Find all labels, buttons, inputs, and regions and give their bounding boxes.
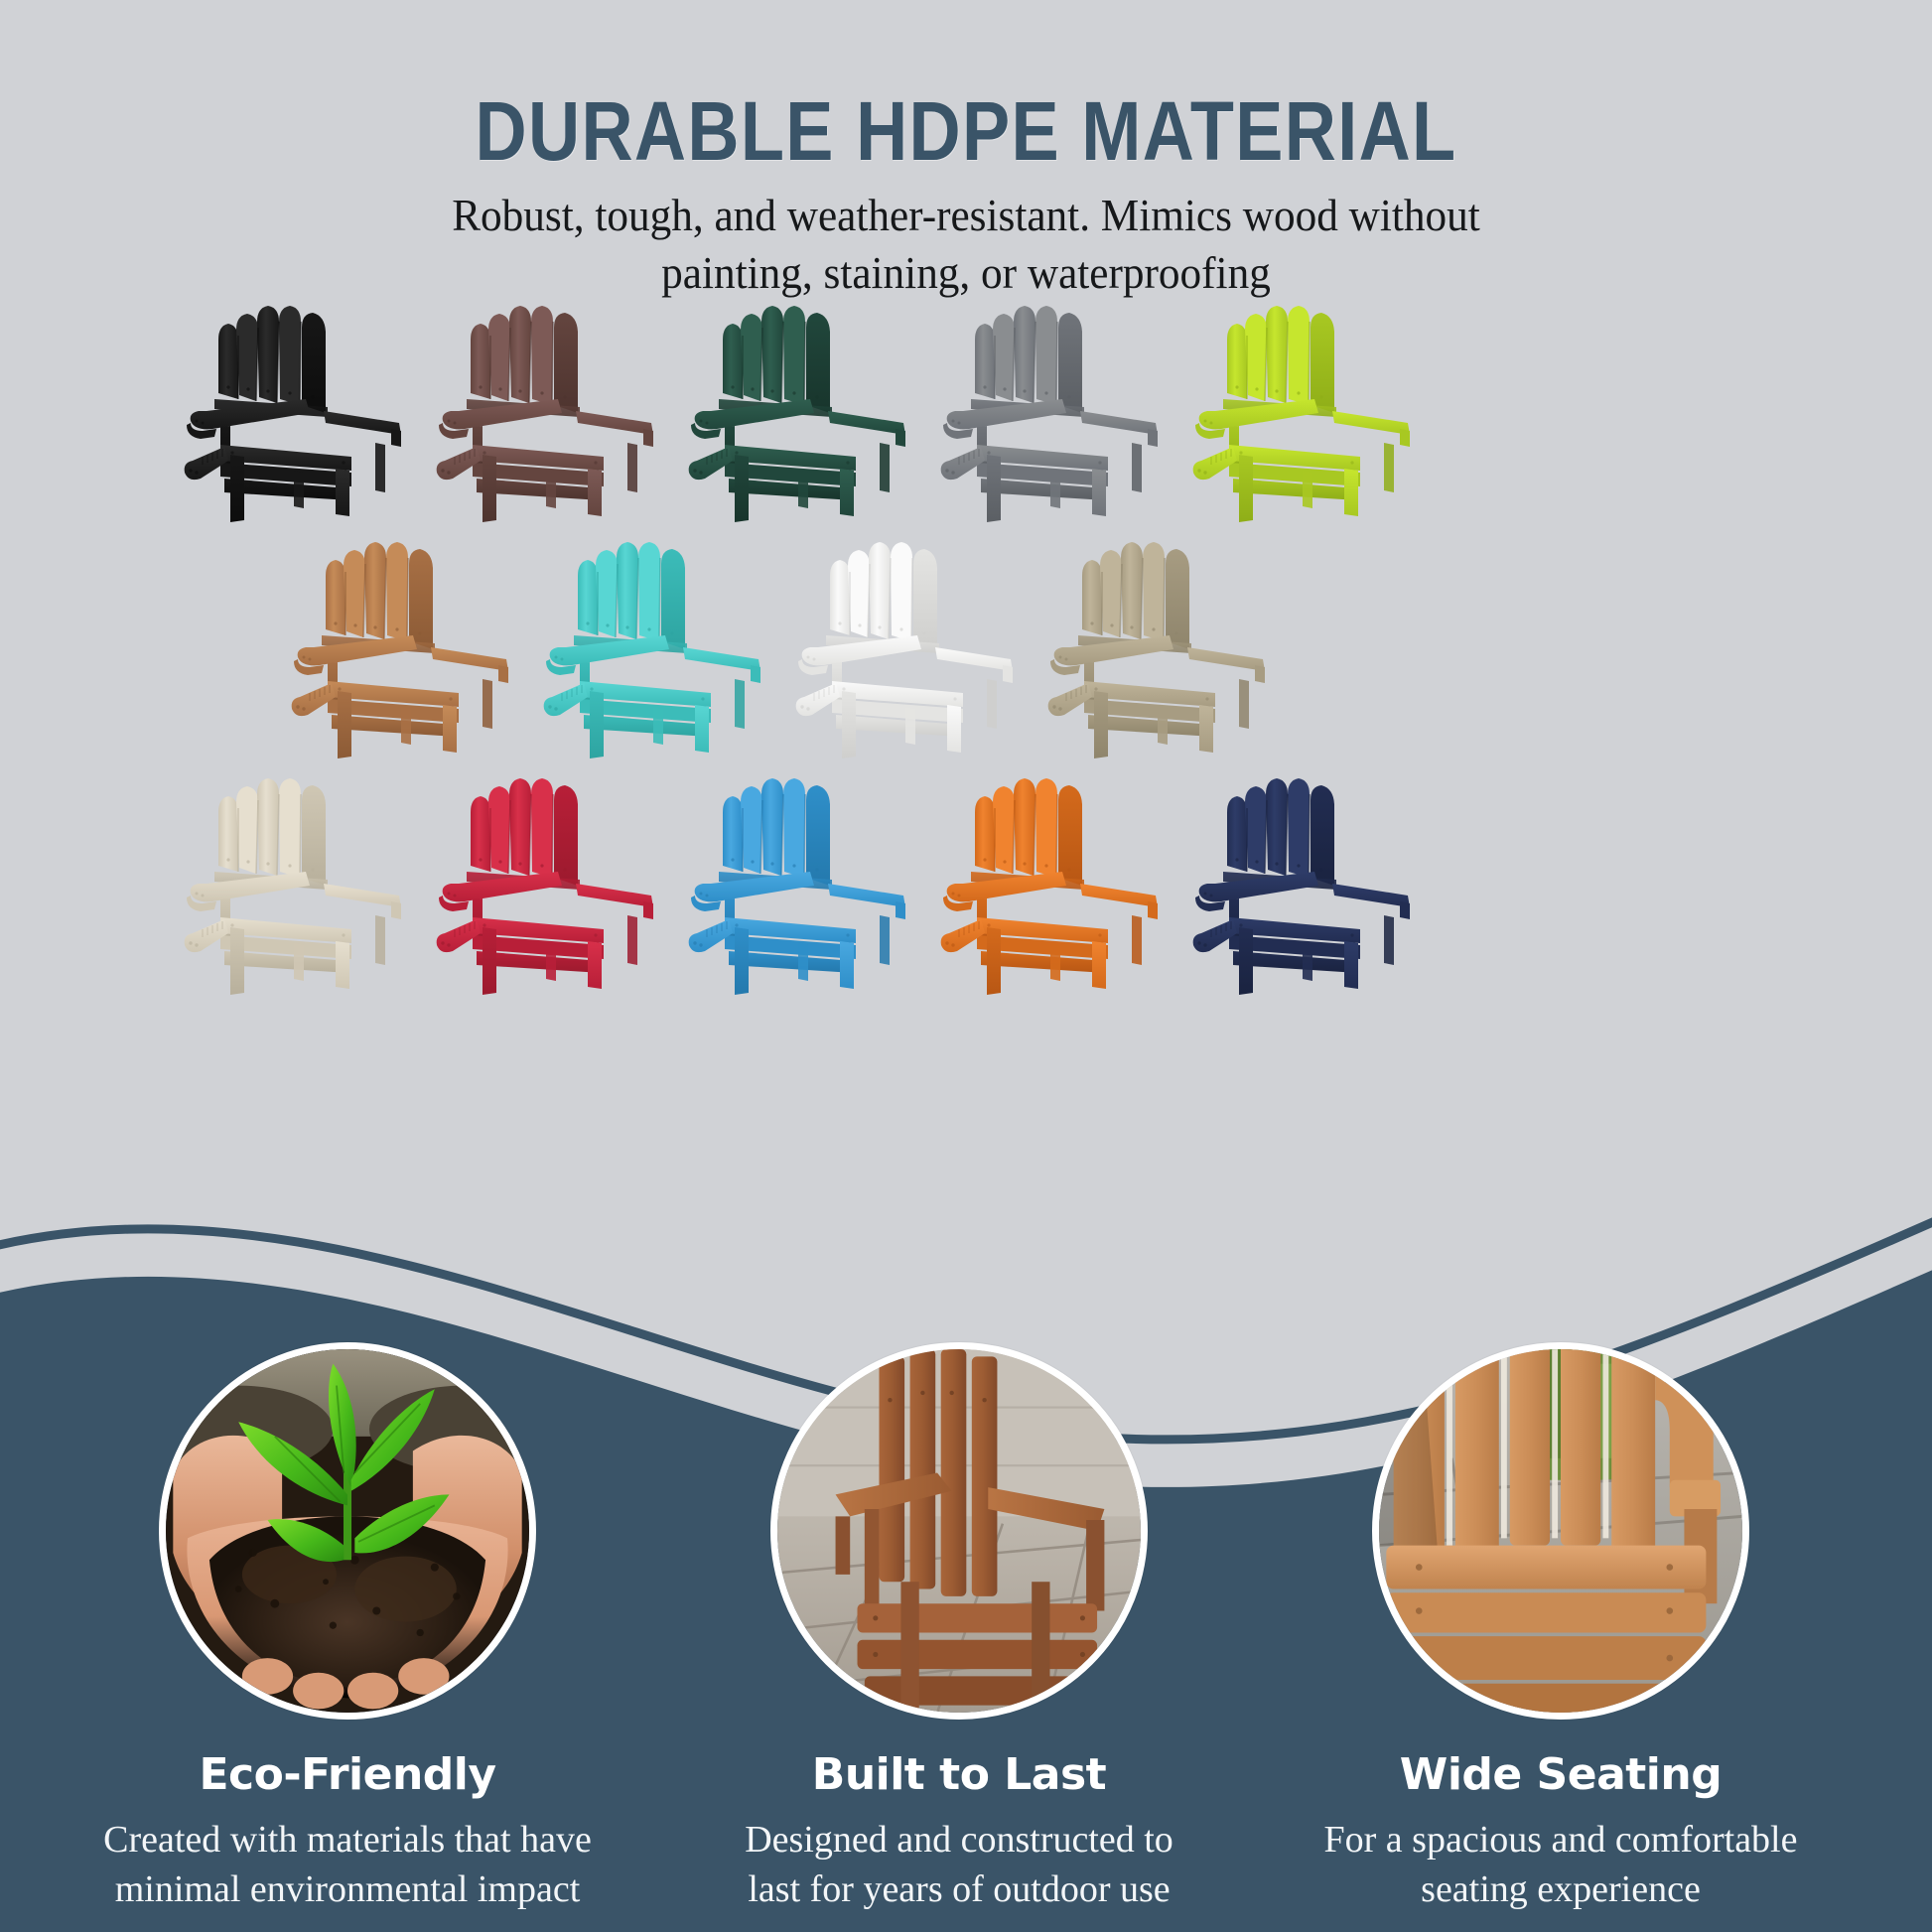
chair-swatch-turquoise[interactable]: [536, 532, 770, 762]
chair-swatch-lime-green[interactable]: [1185, 296, 1420, 526]
subtitle-line-2: painting, staining, or waterproofing: [58, 244, 1873, 302]
color-swatch-grid: [0, 296, 1932, 1001]
chair-swatch-brown[interactable]: [429, 296, 663, 526]
feature-description-line-1: Designed and constructed to: [685, 1816, 1233, 1864]
feature-description-line-2: minimal environmental impact: [73, 1865, 621, 1914]
chair-swatch-light-blue[interactable]: [681, 768, 915, 999]
adirondack-chair-icon: [536, 532, 770, 762]
adirondack-chair-icon: [177, 296, 411, 526]
adirondack-chair-icon: [681, 296, 915, 526]
feature-wide-seating: Wide Seating For a spacious and comforta…: [1263, 1342, 1859, 1914]
page-title: DURABLE HDPE MATERIAL: [135, 83, 1797, 180]
chair-swatch-gray[interactable]: [933, 296, 1168, 526]
feature-built-to-last: Built to Last Designed and constructed t…: [661, 1342, 1257, 1914]
chair-row-3: [0, 768, 1932, 1001]
feature-image-eco-friendly: [159, 1342, 536, 1720]
feature-description: Designed and constructed to last for yea…: [661, 1816, 1257, 1914]
chair-swatch-black[interactable]: [177, 296, 411, 526]
feature-description: Created with materials that have minimal…: [50, 1816, 645, 1914]
adirondack-chair-icon: [429, 296, 663, 526]
adirondack-chair-icon: [788, 532, 1023, 762]
chair-swatch-red[interactable]: [429, 768, 663, 999]
chair-swatch-dark-green[interactable]: [681, 296, 915, 526]
chair-swatch-khaki[interactable]: [1040, 532, 1275, 762]
chair-row-2: [0, 532, 1932, 764]
feature-title: Eco-Friendly: [50, 1749, 645, 1800]
adirondack-chair-icon: [429, 768, 663, 999]
hands-seedling-illustration: [166, 1349, 529, 1713]
feature-list: Eco-Friendly Created with materials that…: [0, 1108, 1932, 1932]
feature-description-line-2: seating experience: [1287, 1865, 1835, 1914]
chair-row-1: [0, 296, 1932, 528]
chair-swatch-white[interactable]: [788, 532, 1023, 762]
adirondack-chair-icon: [933, 768, 1168, 999]
chair-swatch-camel-tan[interactable]: [284, 532, 518, 762]
chair-swatch-ivory-cream[interactable]: [177, 768, 411, 999]
chair-swatch-navy-blue[interactable]: [1185, 768, 1420, 999]
adirondack-chair-icon: [177, 768, 411, 999]
chair-swatch-orange[interactable]: [933, 768, 1168, 999]
feature-eco-friendly: Eco-Friendly Created with materials that…: [50, 1342, 645, 1914]
infographic-canvas: DURABLE HDPE MATERIAL Robust, tough, and…: [0, 0, 1932, 1932]
adirondack-chair-icon: [681, 768, 915, 999]
feature-description-line-2: last for years of outdoor use: [685, 1865, 1233, 1914]
adirondack-chair-icon: [1040, 532, 1275, 762]
feature-description-line-1: For a spacious and comfortable: [1287, 1816, 1835, 1864]
feature-title: Wide Seating: [1263, 1749, 1859, 1800]
subtitle-line-1: Robust, tough, and weather-resistant. Mi…: [58, 187, 1873, 244]
page-subtitle: Robust, tough, and weather-resistant. Mi…: [58, 187, 1873, 302]
adirondack-chair-icon: [1185, 296, 1420, 526]
feature-image-built-to-last: [770, 1342, 1148, 1720]
feature-description: For a spacious and comfortable seating e…: [1263, 1816, 1859, 1914]
feature-description-line-1: Created with materials that have: [73, 1816, 621, 1864]
patio-chair-photo-illustration: [777, 1349, 1141, 1713]
adirondack-chair-icon: [1185, 768, 1420, 999]
wide-seat-closeup-illustration: [1379, 1349, 1742, 1713]
adirondack-chair-icon: [933, 296, 1168, 526]
feature-image-wide-seating: [1372, 1342, 1749, 1720]
adirondack-chair-icon: [284, 532, 518, 762]
feature-title: Built to Last: [661, 1749, 1257, 1800]
